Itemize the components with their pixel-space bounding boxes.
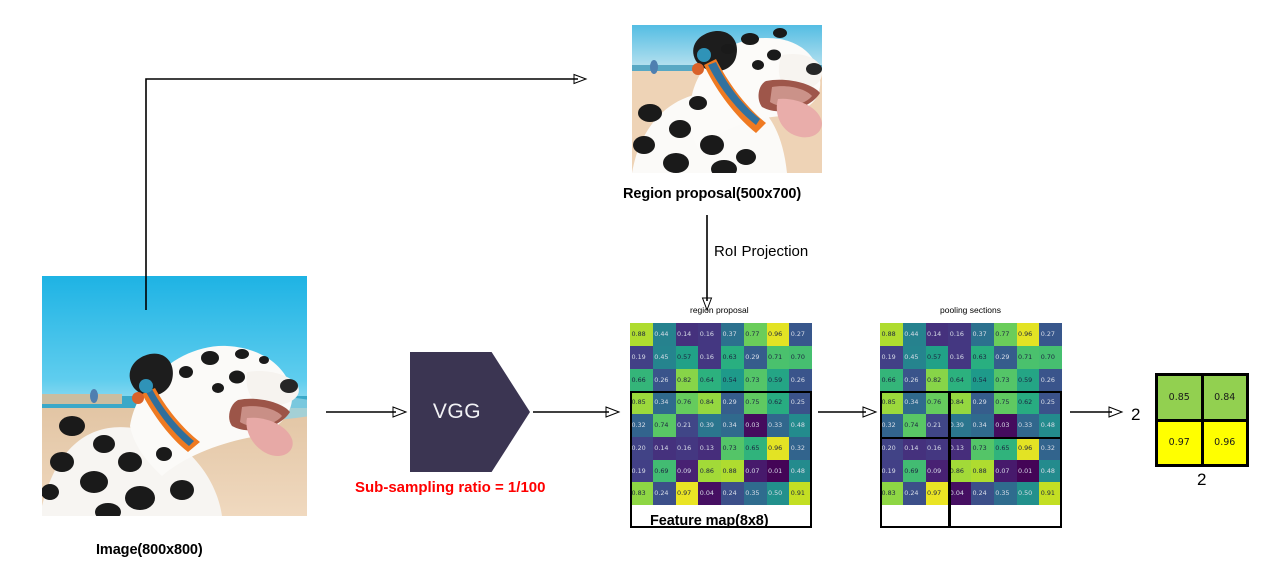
heatmap-cell-value: 0.35 xyxy=(994,490,1010,496)
heatmap-cell-value: 0.21 xyxy=(676,422,692,428)
heatmap-cell: 0.74 xyxy=(653,414,676,437)
heatmap-cell: 0.69 xyxy=(903,460,926,483)
heatmap-cell: 0.88 xyxy=(721,460,744,483)
heatmap-cell-value: 0.24 xyxy=(971,490,987,496)
output-col-count-label: 2 xyxy=(1197,470,1206,490)
heatmap-cell: 0.19 xyxy=(880,460,903,483)
heatmap-cell: 0.85 xyxy=(880,391,903,414)
heatmap-cell: 0.04 xyxy=(698,482,721,505)
heatmap-cell: 0.48 xyxy=(1039,460,1062,483)
heatmap-cell: 0.50 xyxy=(767,482,790,505)
heatmap-cell-value: 0.74 xyxy=(903,422,919,428)
heatmap-cell-value: 0.44 xyxy=(653,331,669,337)
heatmap-cell: 0.04 xyxy=(948,482,971,505)
heatmap-cell: 0.85 xyxy=(630,391,653,414)
heatmap-cell-value: 0.84 xyxy=(948,399,964,405)
heatmap-cell-value: 0.50 xyxy=(1017,490,1033,496)
heatmap-cell: 0.75 xyxy=(744,391,767,414)
heatmap-cell: 0.44 xyxy=(653,323,676,346)
heatmap-cell: 0.83 xyxy=(630,482,653,505)
heatmap-cell: 0.34 xyxy=(903,391,926,414)
heatmap-cell-value: 0.33 xyxy=(767,422,783,428)
heatmap-cell-value: 0.88 xyxy=(721,468,737,474)
heatmap-cell-value: 0.19 xyxy=(880,468,896,474)
pooled-output-grid: 0.850.840.970.96 xyxy=(1155,373,1249,467)
heatmap-cell-value: 0.77 xyxy=(994,331,1010,337)
heatmap-cell-value: 0.32 xyxy=(789,445,805,451)
heatmap-cell-value: 0.48 xyxy=(1039,468,1055,474)
heatmap-cell: 0.44 xyxy=(903,323,926,346)
pooling-sections-grid-title: pooling sections xyxy=(940,305,1001,315)
heatmap-cell: 0.16 xyxy=(948,323,971,346)
heatmap-cell-value: 0.88 xyxy=(630,331,646,337)
heatmap-cell: 0.34 xyxy=(971,414,994,437)
heatmap-cell: 0.96 xyxy=(767,323,790,346)
heatmap-cell-value: 0.13 xyxy=(948,445,964,451)
heatmap-cell-value: 0.82 xyxy=(676,377,692,383)
heatmap-cell: 0.33 xyxy=(767,414,790,437)
heatmap-cell-value: 0.33 xyxy=(1017,422,1033,428)
heatmap-cell-value: 0.16 xyxy=(948,331,964,337)
heatmap-cell: 0.16 xyxy=(926,437,949,460)
heatmap-cell: 0.34 xyxy=(721,414,744,437)
heatmap-cell-value: 0.74 xyxy=(653,422,669,428)
heatmap-cell-value: 0.25 xyxy=(1039,399,1055,405)
heatmap-cell: 0.20 xyxy=(880,437,903,460)
heatmap-cell-value: 0.16 xyxy=(948,354,964,360)
heatmap-cell: 0.86 xyxy=(698,460,721,483)
heatmap-cell: 0.84 xyxy=(698,391,721,414)
heatmap-cell: 0.16 xyxy=(698,323,721,346)
arrow-image-to-vgg xyxy=(326,403,416,423)
heatmap-cell-value: 0.32 xyxy=(1039,445,1055,451)
heatmap-cell: 0.03 xyxy=(744,414,767,437)
feature-map-grid: 0.880.440.140.160.370.770.960.270.190.45… xyxy=(630,323,812,505)
heatmap-cell-value: 0.21 xyxy=(926,422,942,428)
heatmap-cell-value: 0.01 xyxy=(767,468,783,474)
heatmap-cell-value: 0.01 xyxy=(1017,468,1033,474)
heatmap-cell-value: 0.86 xyxy=(698,468,714,474)
heatmap-cell-value: 0.73 xyxy=(971,445,987,451)
heatmap-cell: 0.62 xyxy=(1017,391,1040,414)
heatmap-cell: 0.24 xyxy=(903,482,926,505)
vgg-block: VGG xyxy=(410,352,530,472)
heatmap-cell-value: 0.19 xyxy=(880,354,896,360)
heatmap-cell: 0.77 xyxy=(744,323,767,346)
heatmap-cell-value: 0.32 xyxy=(630,422,646,428)
heatmap-cell: 0.39 xyxy=(698,414,721,437)
heatmap-cell-value: 0.66 xyxy=(880,377,896,383)
heatmap-cell-value: 0.29 xyxy=(721,399,737,405)
heatmap-cell-value: 0.73 xyxy=(721,445,737,451)
heatmap-cell: 0.03 xyxy=(994,414,1017,437)
heatmap-cell-value: 0.39 xyxy=(698,422,714,428)
heatmap-cell: 0.16 xyxy=(698,346,721,369)
heatmap-cell: 0.54 xyxy=(721,369,744,392)
heatmap-cell-value: 0.24 xyxy=(721,490,737,496)
heatmap-cell-value: 0.83 xyxy=(880,490,896,496)
heatmap-cell: 0.33 xyxy=(1017,414,1040,437)
pooling-sections-cells: 0.880.440.140.160.370.770.960.270.190.45… xyxy=(880,323,1062,505)
heatmap-cell: 0.73 xyxy=(994,369,1017,392)
heatmap-cell-value: 0.26 xyxy=(653,377,669,383)
heatmap-cell-value: 0.96 xyxy=(1017,445,1033,451)
pooled-output-cell: 0.97 xyxy=(1158,422,1201,465)
heatmap-cell-value: 0.16 xyxy=(698,354,714,360)
heatmap-cell: 0.63 xyxy=(971,346,994,369)
heatmap-cell-value: 0.85 xyxy=(630,399,646,405)
heatmap-cell: 0.88 xyxy=(880,323,903,346)
heatmap-cell-value: 0.29 xyxy=(971,399,987,405)
heatmap-cell-value: 0.37 xyxy=(721,331,737,337)
heatmap-cell-value: 0.57 xyxy=(676,354,692,360)
heatmap-cell: 0.32 xyxy=(880,414,903,437)
heatmap-cell: 0.73 xyxy=(744,369,767,392)
heatmap-cell-value: 0.14 xyxy=(926,331,942,337)
heatmap-cell-value: 0.76 xyxy=(926,399,942,405)
heatmap-cell: 0.01 xyxy=(1017,460,1040,483)
heatmap-cell: 0.26 xyxy=(789,369,812,392)
heatmap-cell: 0.48 xyxy=(789,414,812,437)
heatmap-cell-value: 0.07 xyxy=(994,468,1010,474)
heatmap-cell: 0.62 xyxy=(767,391,790,414)
heatmap-cell: 0.57 xyxy=(676,346,699,369)
region-proposal-grid-title: region proposal xyxy=(690,305,749,315)
heatmap-cell-value: 0.14 xyxy=(903,445,919,451)
heatmap-cell-value: 0.75 xyxy=(994,399,1010,405)
pooled-output-cell: 0.84 xyxy=(1204,376,1247,419)
heatmap-cell-value: 0.57 xyxy=(926,354,942,360)
heatmap-cell-value: 0.83 xyxy=(630,490,646,496)
subsampling-ratio-label: Sub-sampling ratio = 1/100 xyxy=(355,479,545,496)
heatmap-cell: 0.84 xyxy=(948,391,971,414)
heatmap-cell-value: 0.96 xyxy=(767,445,783,451)
heatmap-cell-value: 0.75 xyxy=(744,399,760,405)
heatmap-cell-value: 0.63 xyxy=(971,354,987,360)
heatmap-cell-value: 0.69 xyxy=(653,468,669,474)
heatmap-cell: 0.19 xyxy=(630,460,653,483)
heatmap-cell: 0.59 xyxy=(767,369,790,392)
heatmap-cell: 0.63 xyxy=(721,346,744,369)
heatmap-cell-value: 0.70 xyxy=(789,354,805,360)
heatmap-cell-value: 0.16 xyxy=(926,445,942,451)
heatmap-cell-value: 0.09 xyxy=(926,468,942,474)
heatmap-cell: 0.21 xyxy=(926,414,949,437)
heatmap-cell: 0.26 xyxy=(1039,369,1062,392)
heatmap-cell-value: 0.59 xyxy=(767,377,783,383)
heatmap-cell-value: 0.26 xyxy=(903,377,919,383)
input-image-label: Image(800x800) xyxy=(96,542,203,558)
heatmap-cell: 0.96 xyxy=(767,437,790,460)
heatmap-cell: 0.54 xyxy=(971,369,994,392)
heatmap-cell-value: 0.62 xyxy=(767,399,783,405)
heatmap-cell: 0.29 xyxy=(994,346,1017,369)
heatmap-cell-value: 0.24 xyxy=(653,490,669,496)
heatmap-cell: 0.26 xyxy=(903,369,926,392)
heatmap-cell-value: 0.91 xyxy=(789,490,805,496)
heatmap-cell-value: 0.97 xyxy=(926,490,942,496)
heatmap-cell: 0.29 xyxy=(971,391,994,414)
heatmap-cell-value: 0.82 xyxy=(926,377,942,383)
heatmap-cell-value: 0.34 xyxy=(653,399,669,405)
output-row-count-label: 2 xyxy=(1131,405,1140,425)
heatmap-cell: 0.69 xyxy=(653,460,676,483)
heatmap-cell: 0.39 xyxy=(948,414,971,437)
heatmap-cell-value: 0.88 xyxy=(971,468,987,474)
heatmap-cell: 0.74 xyxy=(903,414,926,437)
heatmap-cell: 0.48 xyxy=(789,460,812,483)
heatmap-cell: 0.48 xyxy=(1039,414,1062,437)
heatmap-cell: 0.24 xyxy=(653,482,676,505)
heatmap-cell: 0.96 xyxy=(1017,437,1040,460)
elbow-arrow-image-to-proposal xyxy=(0,60,620,330)
heatmap-cell: 0.07 xyxy=(744,460,767,483)
heatmap-cell-value: 0.96 xyxy=(767,331,783,337)
vgg-label: VGG xyxy=(433,400,507,424)
heatmap-cell: 0.45 xyxy=(653,346,676,369)
arrow-pooling-to-output xyxy=(1070,403,1136,423)
heatmap-cell-value: 0.16 xyxy=(676,445,692,451)
arrow-feature-map-to-pooling xyxy=(818,403,884,423)
heatmap-cell: 0.86 xyxy=(948,460,971,483)
heatmap-cell-value: 0.48 xyxy=(1039,422,1055,428)
heatmap-cell: 0.70 xyxy=(1039,346,1062,369)
heatmap-cell-value: 0.27 xyxy=(789,331,805,337)
heatmap-cell-value: 0.25 xyxy=(789,399,805,405)
heatmap-cell: 0.32 xyxy=(630,414,653,437)
heatmap-cell-value: 0.65 xyxy=(994,445,1010,451)
heatmap-cell: 0.71 xyxy=(767,346,790,369)
heatmap-cell: 0.73 xyxy=(971,437,994,460)
heatmap-cell: 0.57 xyxy=(926,346,949,369)
heatmap-cell-value: 0.37 xyxy=(971,331,987,337)
heatmap-cell: 0.91 xyxy=(789,482,812,505)
heatmap-cell: 0.16 xyxy=(676,437,699,460)
heatmap-cell: 0.65 xyxy=(744,437,767,460)
heatmap-cell-value: 0.85 xyxy=(880,399,896,405)
heatmap-cell: 0.26 xyxy=(653,369,676,392)
heatmap-cell-value: 0.20 xyxy=(880,445,896,451)
pooled-output-cell: 0.85 xyxy=(1158,376,1201,419)
heatmap-cell: 0.45 xyxy=(903,346,926,369)
heatmap-cell-value: 0.54 xyxy=(721,377,737,383)
heatmap-cell: 0.65 xyxy=(994,437,1017,460)
heatmap-cell: 0.91 xyxy=(1039,482,1062,505)
heatmap-cell: 0.66 xyxy=(880,369,903,392)
heatmap-cell-value: 0.20 xyxy=(630,445,646,451)
heatmap-cell: 0.13 xyxy=(698,437,721,460)
pooling-sections-grid: 0.880.440.140.160.370.770.960.270.190.45… xyxy=(880,323,1062,505)
heatmap-cell-value: 0.50 xyxy=(767,490,783,496)
heatmap-cell-value: 0.97 xyxy=(676,490,692,496)
heatmap-cell-value: 0.09 xyxy=(676,468,692,474)
heatmap-cell: 0.75 xyxy=(994,391,1017,414)
heatmap-cell-value: 0.24 xyxy=(903,490,919,496)
heatmap-cell-value: 0.04 xyxy=(698,490,714,496)
heatmap-cell-value: 0.64 xyxy=(948,377,964,383)
heatmap-cell-value: 0.03 xyxy=(744,422,760,428)
heatmap-cell-value: 0.73 xyxy=(744,377,760,383)
pooled-output-cell-value: 0.85 xyxy=(1169,392,1190,403)
heatmap-cell: 0.14 xyxy=(653,437,676,460)
heatmap-cell: 0.37 xyxy=(971,323,994,346)
heatmap-cell-value: 0.69 xyxy=(903,468,919,474)
heatmap-cell: 0.82 xyxy=(676,369,699,392)
heatmap-cell: 0.64 xyxy=(948,369,971,392)
heatmap-cell: 0.76 xyxy=(926,391,949,414)
heatmap-cell: 0.09 xyxy=(926,460,949,483)
feature-map-cells: 0.880.440.140.160.370.770.960.270.190.45… xyxy=(630,323,812,505)
heatmap-cell: 0.34 xyxy=(653,391,676,414)
heatmap-cell: 0.76 xyxy=(676,391,699,414)
heatmap-cell-value: 0.84 xyxy=(698,399,714,405)
heatmap-cell: 0.96 xyxy=(1017,323,1040,346)
heatmap-cell: 0.27 xyxy=(789,323,812,346)
heatmap-cell-value: 0.19 xyxy=(630,354,646,360)
heatmap-cell: 0.07 xyxy=(994,460,1017,483)
heatmap-cell-value: 0.29 xyxy=(744,354,760,360)
heatmap-cell: 0.25 xyxy=(789,391,812,414)
heatmap-cell: 0.09 xyxy=(676,460,699,483)
heatmap-cell: 0.37 xyxy=(721,323,744,346)
heatmap-cell-value: 0.34 xyxy=(903,399,919,405)
heatmap-cell: 0.29 xyxy=(721,391,744,414)
roi-projection-arrow xyxy=(690,215,750,315)
heatmap-cell-value: 0.91 xyxy=(1039,490,1055,496)
heatmap-cell: 0.77 xyxy=(994,323,1017,346)
arrow-vgg-to-feature-map xyxy=(533,403,628,423)
heatmap-cell-value: 0.48 xyxy=(789,468,805,474)
heatmap-cell-value: 0.44 xyxy=(903,331,919,337)
heatmap-cell-value: 0.39 xyxy=(948,422,964,428)
heatmap-cell-value: 0.88 xyxy=(880,331,896,337)
heatmap-cell-value: 0.63 xyxy=(721,354,737,360)
heatmap-cell: 0.64 xyxy=(698,369,721,392)
region-proposal-label: Region proposal(500x700) xyxy=(623,186,801,202)
heatmap-cell: 0.20 xyxy=(630,437,653,460)
heatmap-cell: 0.29 xyxy=(744,346,767,369)
heatmap-cell: 0.59 xyxy=(1017,369,1040,392)
heatmap-cell: 0.83 xyxy=(880,482,903,505)
heatmap-cell-value: 0.03 xyxy=(994,422,1010,428)
heatmap-cell: 0.70 xyxy=(789,346,812,369)
heatmap-cell-value: 0.45 xyxy=(653,354,669,360)
heatmap-cell-value: 0.27 xyxy=(1039,331,1055,337)
pooled-output-cell: 0.96 xyxy=(1204,422,1247,465)
heatmap-cell-value: 0.77 xyxy=(744,331,760,337)
heatmap-cell-value: 0.26 xyxy=(789,377,805,383)
heatmap-cell-value: 0.73 xyxy=(994,377,1010,383)
heatmap-cell-value: 0.34 xyxy=(971,422,987,428)
heatmap-cell: 0.66 xyxy=(630,369,653,392)
heatmap-cell-value: 0.86 xyxy=(948,468,964,474)
heatmap-cell: 0.24 xyxy=(971,482,994,505)
heatmap-cell-value: 0.66 xyxy=(630,377,646,383)
heatmap-cell: 0.32 xyxy=(1039,437,1062,460)
heatmap-cell: 0.97 xyxy=(926,482,949,505)
heatmap-cell-value: 0.71 xyxy=(767,354,783,360)
heatmap-cell: 0.35 xyxy=(994,482,1017,505)
heatmap-cell: 0.88 xyxy=(971,460,994,483)
heatmap-cell: 0.25 xyxy=(1039,391,1062,414)
heatmap-cell: 0.14 xyxy=(676,323,699,346)
heatmap-cell: 0.16 xyxy=(948,346,971,369)
heatmap-cell: 0.27 xyxy=(1039,323,1062,346)
pooled-output-cell-value: 0.84 xyxy=(1214,392,1235,403)
heatmap-cell-value: 0.07 xyxy=(744,468,760,474)
heatmap-cell-value: 0.16 xyxy=(698,331,714,337)
heatmap-cell: 0.24 xyxy=(721,482,744,505)
heatmap-cell: 0.14 xyxy=(903,437,926,460)
roi-projection-label: RoI Projection xyxy=(714,243,808,260)
heatmap-cell: 0.73 xyxy=(721,437,744,460)
heatmap-cell-value: 0.76 xyxy=(676,399,692,405)
heatmap-cell: 0.19 xyxy=(880,346,903,369)
heatmap-cell-value: 0.14 xyxy=(676,331,692,337)
heatmap-cell: 0.14 xyxy=(926,323,949,346)
heatmap-cell: 0.97 xyxy=(676,482,699,505)
heatmap-cell-value: 0.04 xyxy=(948,490,964,496)
region-proposal-photo xyxy=(632,25,822,173)
heatmap-cell-value: 0.19 xyxy=(630,468,646,474)
heatmap-cell: 0.82 xyxy=(926,369,949,392)
heatmap-cell: 0.32 xyxy=(789,437,812,460)
heatmap-cell-value: 0.45 xyxy=(903,354,919,360)
heatmap-cell: 0.88 xyxy=(630,323,653,346)
heatmap-cell: 0.71 xyxy=(1017,346,1040,369)
heatmap-cell: 0.50 xyxy=(1017,482,1040,505)
feature-map-label: Feature map(8x8) xyxy=(650,513,768,529)
heatmap-cell-value: 0.70 xyxy=(1039,354,1055,360)
heatmap-cell-value: 0.26 xyxy=(1039,377,1055,383)
heatmap-cell-value: 0.35 xyxy=(744,490,760,496)
heatmap-cell-value: 0.34 xyxy=(721,422,737,428)
heatmap-cell-value: 0.62 xyxy=(1017,399,1033,405)
heatmap-cell-value: 0.59 xyxy=(1017,377,1033,383)
heatmap-cell-value: 0.71 xyxy=(1017,354,1033,360)
heatmap-cell-value: 0.14 xyxy=(653,445,669,451)
heatmap-cell-value: 0.48 xyxy=(789,422,805,428)
heatmap-cell-value: 0.13 xyxy=(698,445,714,451)
heatmap-cell-value: 0.32 xyxy=(880,422,896,428)
heatmap-cell-value: 0.64 xyxy=(698,377,714,383)
pooled-output-cell-value: 0.96 xyxy=(1214,437,1235,448)
heatmap-cell: 0.21 xyxy=(676,414,699,437)
heatmap-cell-value: 0.54 xyxy=(971,377,987,383)
heatmap-cell: 0.01 xyxy=(767,460,790,483)
heatmap-cell-value: 0.65 xyxy=(744,445,760,451)
heatmap-cell: 0.19 xyxy=(630,346,653,369)
heatmap-cell-value: 0.96 xyxy=(1017,331,1033,337)
heatmap-cell-value: 0.29 xyxy=(994,354,1010,360)
heatmap-cell: 0.13 xyxy=(948,437,971,460)
pooled-output-cell-value: 0.97 xyxy=(1169,437,1190,448)
heatmap-cell: 0.35 xyxy=(744,482,767,505)
